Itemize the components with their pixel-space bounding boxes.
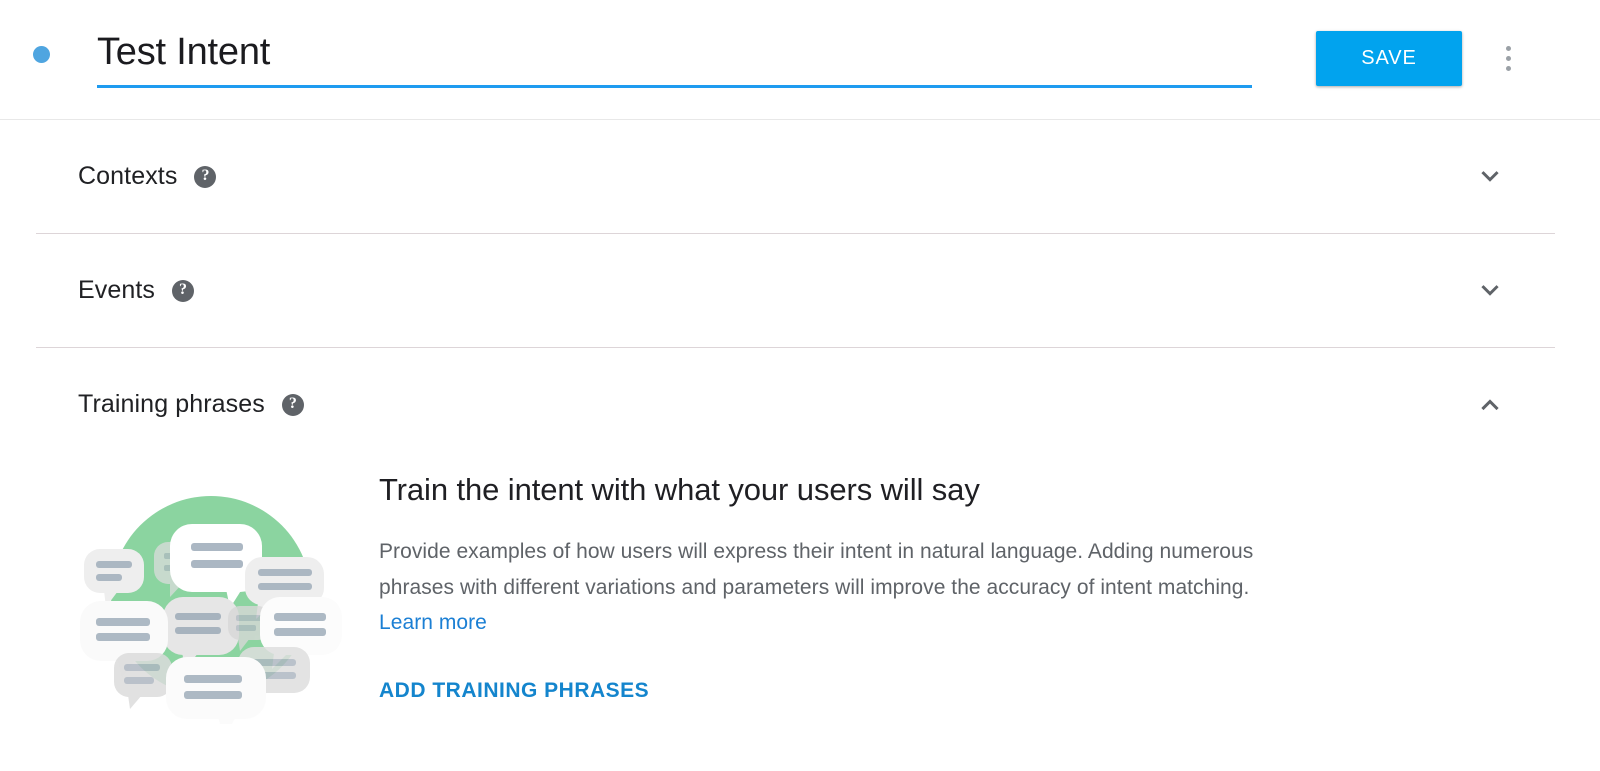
save-button[interactable]: SAVE xyxy=(1316,31,1462,86)
help-icon[interactable]: ? xyxy=(194,166,216,188)
section-label-training-phrases: Training phrases xyxy=(78,390,265,419)
intent-name-input[interactable] xyxy=(97,26,1252,78)
section-header-events[interactable]: Events ? xyxy=(0,234,1600,347)
section-label-contexts: Contexts xyxy=(78,162,177,191)
intent-editor-page: SAVE Contexts ? Events ? xyxy=(0,0,1600,771)
help-icon[interactable]: ? xyxy=(282,394,304,416)
intent-name-field[interactable] xyxy=(97,26,1252,88)
editor-header: SAVE xyxy=(0,0,1600,120)
intent-sections: Contexts ? Events ? Training phrases ? xyxy=(0,120,1600,724)
help-icon[interactable]: ? xyxy=(172,280,194,302)
learn-more-link[interactable]: Learn more xyxy=(379,611,487,634)
training-phrases-heading: Train the intent with what your users wi… xyxy=(379,471,1259,508)
chevron-down-icon[interactable] xyxy=(1470,271,1510,311)
section-header-contexts[interactable]: Contexts ? xyxy=(0,120,1600,233)
training-phrases-copy: Train the intent with what your users wi… xyxy=(379,463,1259,724)
more-vert-dot-2 xyxy=(1506,56,1511,61)
more-vert-icon[interactable] xyxy=(1499,38,1517,78)
add-training-phrases-button[interactable]: ADD TRAINING PHRASES xyxy=(379,679,649,703)
section-label-events: Events xyxy=(78,276,155,305)
training-phrases-panel: Train the intent with what your users wi… xyxy=(0,461,1600,724)
chevron-down-icon[interactable] xyxy=(1470,157,1510,197)
more-vert-dot-1 xyxy=(1506,46,1511,51)
more-vert-dot-3 xyxy=(1506,66,1511,71)
intent-status-dot xyxy=(33,46,50,63)
chevron-up-icon[interactable] xyxy=(1470,385,1510,425)
training-phrases-description: Provide examples of how users will expre… xyxy=(379,534,1259,641)
section-header-training-phrases[interactable]: Training phrases ? xyxy=(0,348,1600,461)
training-phrases-description-text: Provide examples of how users will expre… xyxy=(379,540,1253,599)
chat-bubbles-illustration xyxy=(78,469,343,724)
